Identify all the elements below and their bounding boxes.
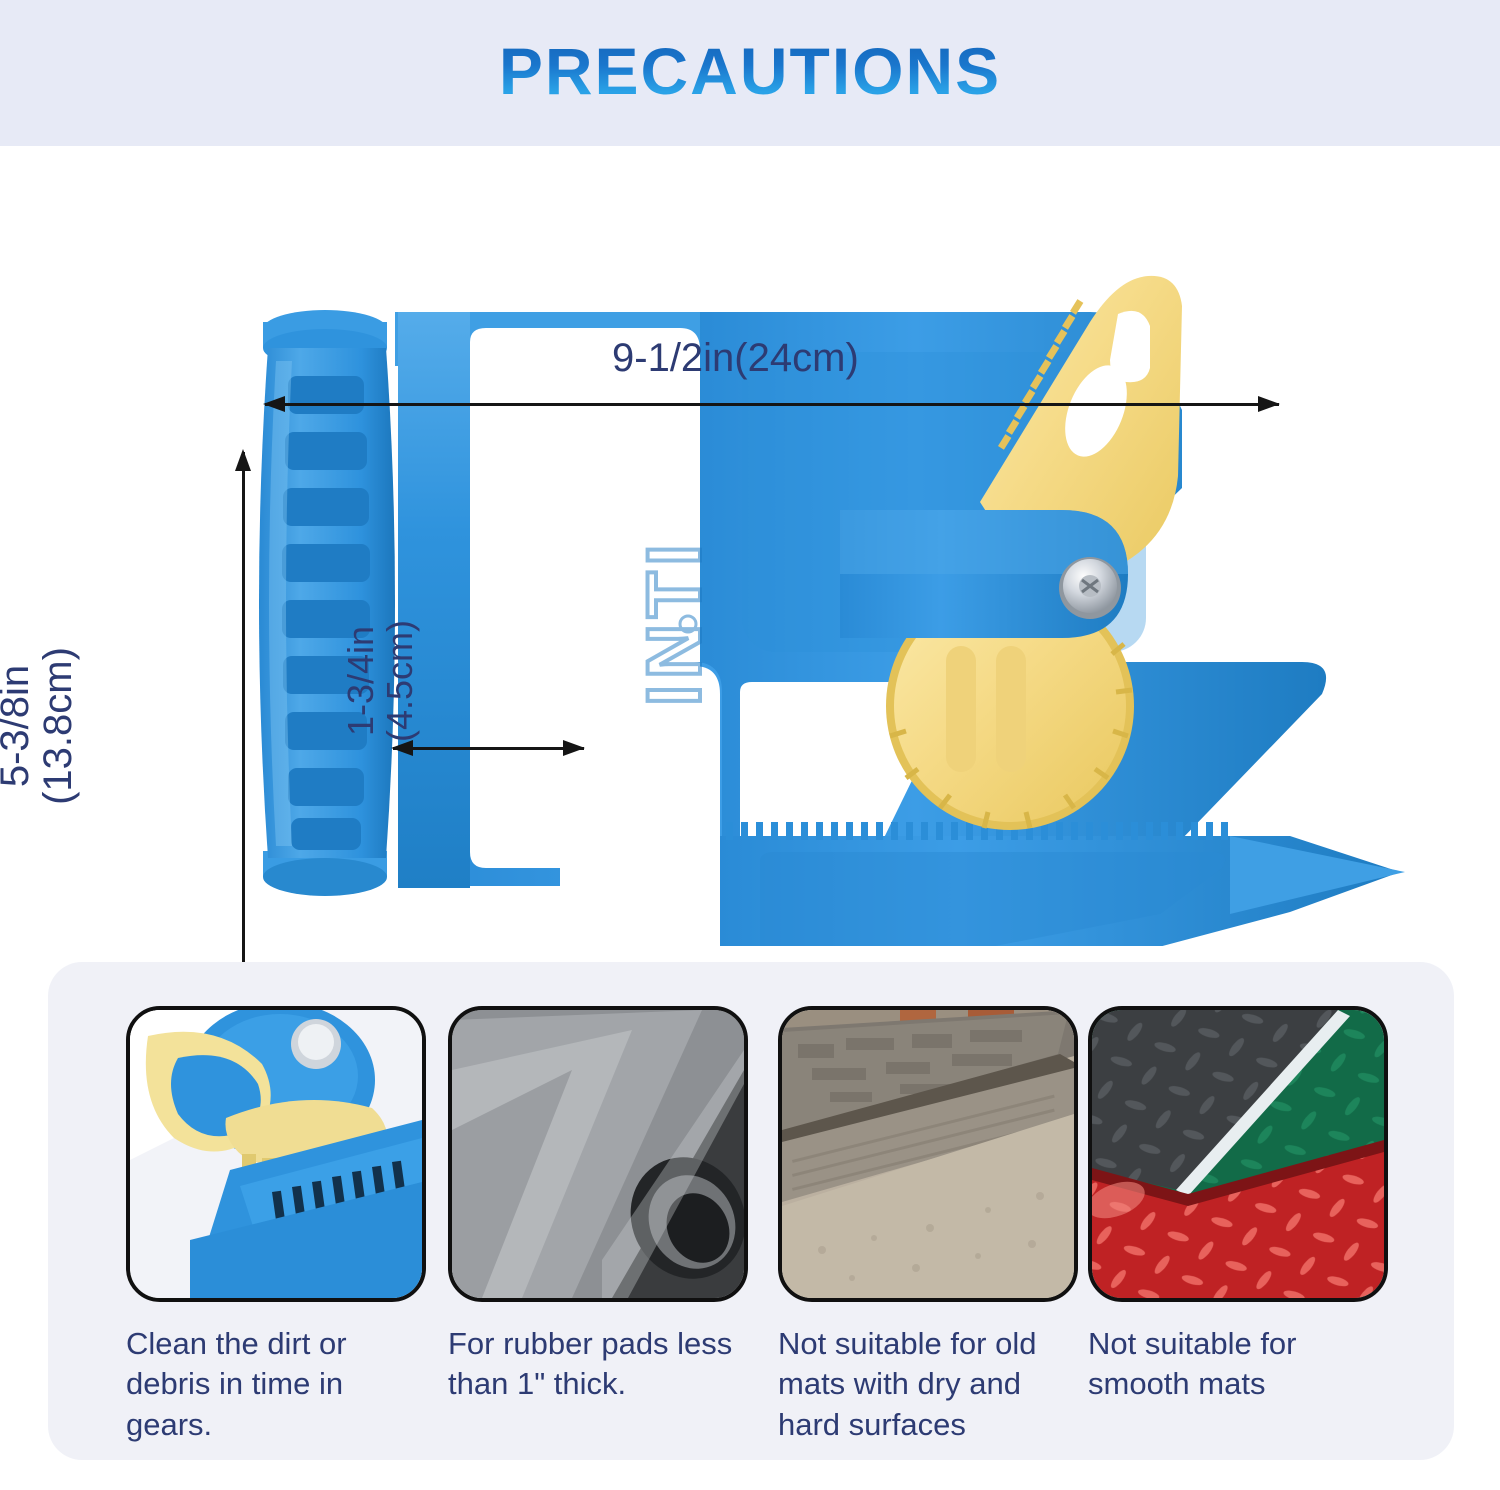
inner-dimension-label: 1-3/4in (4.5cm) <box>342 556 420 806</box>
gear-closeup-photo <box>126 1006 426 1302</box>
height-dimension-label-line1: 5-3/8in <box>0 665 37 787</box>
inner-arrow-head-right <box>563 740 585 756</box>
product-diagram-stage: INTI <box>0 146 1500 946</box>
page-title: PRECAUTIONS <box>0 33 1500 109</box>
gear-teeth <box>886 582 1134 830</box>
inner-dimension-label-line1: 1-3/4in <box>340 626 381 736</box>
pivot-bolt <box>1059 557 1121 619</box>
precaution-thumbnail-row: Clean the dirt or debris in time in gear… <box>48 962 1454 1460</box>
precaution-caption: Not suitable for old mats with dry and h… <box>778 1324 1078 1445</box>
precaution-item-clean-gears: Clean the dirt or debris in time in gear… <box>126 1006 426 1445</box>
cutter-gear-wheel <box>886 582 1134 830</box>
diamond-plate-mats-photo <box>1088 1006 1388 1302</box>
precaution-caption: Not suitable for smooth mats <box>1088 1324 1388 1405</box>
rolled-rubber-sheet-photo <box>448 1006 748 1302</box>
height-dimension-label: 5-3/8in (13.8cm) <box>0 576 80 876</box>
precaution-item-old-dry-mats: Not suitable for old mats with dry and h… <box>778 1006 1078 1445</box>
tool-pivot-arm <box>840 510 1128 638</box>
lever-serration <box>998 299 1083 450</box>
tool-base-wedge <box>720 822 1405 946</box>
tool-blue-body <box>395 312 1326 888</box>
width-dimension-line <box>265 403 1279 406</box>
height-arrow-head-top <box>235 449 251 471</box>
precautions-panel: Clean the dirt or debris in time in gear… <box>48 962 1454 1460</box>
brand-emboss: INTI <box>632 538 717 706</box>
inner-dimension-label-line2: (4.5cm) <box>379 620 420 742</box>
precaution-item-rubber-thickness: For rubber pads less than 1" thick. <box>448 1006 748 1405</box>
inner-dimension-line <box>393 747 584 750</box>
cutter-lever-yellow <box>980 276 1182 598</box>
svg-text:INTI: INTI <box>632 538 717 706</box>
height-dimension-label-line2: (13.8cm) <box>36 647 80 805</box>
precaution-item-smooth-mats: Not suitable for smooth mats <box>1088 1006 1388 1405</box>
base-serration <box>726 822 1228 840</box>
width-dimension-label: 9-1/2in(24cm) <box>612 336 859 381</box>
width-arrow-head-left <box>263 396 285 412</box>
old-mat-on-concrete-photo <box>778 1006 1078 1302</box>
width-arrow-head-right <box>1258 396 1280 412</box>
precaution-caption: For rubber pads less than 1" thick. <box>448 1324 748 1405</box>
product-illustration: INTI <box>0 146 1500 946</box>
precaution-caption: Clean the dirt or debris in time in gear… <box>126 1324 426 1445</box>
height-dimension-line <box>242 452 245 1032</box>
